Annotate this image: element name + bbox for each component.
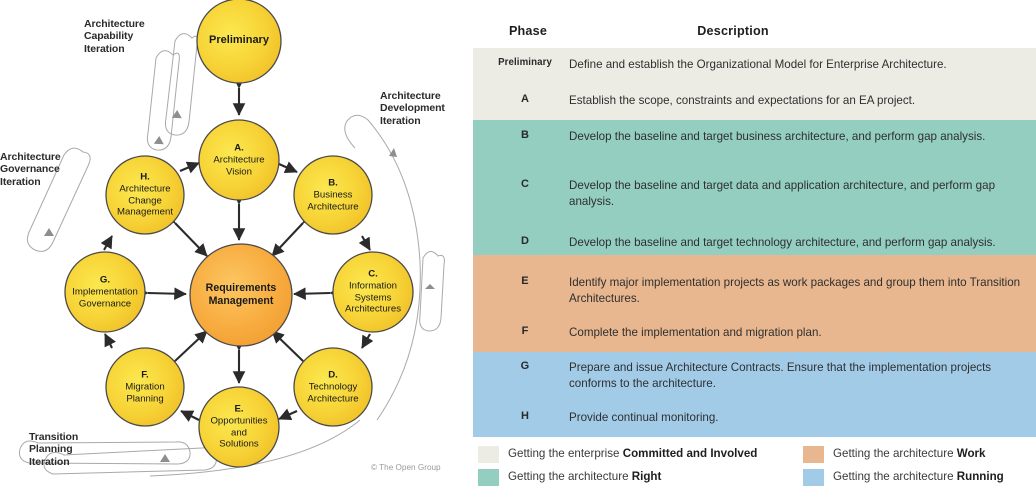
label-architecture-development-iteration: Architecture Development Iteration (380, 90, 445, 127)
legend-emphasis: Work (957, 447, 986, 460)
cell-description: Prepare and issue Architecture Contracts… (569, 360, 1021, 391)
legend-swatch (478, 469, 499, 486)
legend-emphasis: Committed and Involved (623, 447, 758, 460)
circle-phase-b[interactable] (294, 156, 372, 234)
cell-description: Complete the implementation and migratio… (569, 325, 1021, 341)
column-header-phase: Phase (483, 24, 573, 38)
legend-swatch (803, 469, 824, 486)
legend-emphasis: Running (957, 470, 1004, 483)
legend-label: Getting the architecture Running (833, 468, 1004, 486)
circle-phase-e[interactable] (199, 387, 279, 467)
cell-phase: A (481, 93, 569, 105)
circle-phase-d[interactable] (294, 348, 372, 426)
circle-phase-g[interactable] (65, 252, 145, 332)
cell-phase: E (481, 275, 569, 287)
cell-phase: G (481, 360, 569, 372)
cell-description: Establish the scope, constraints and exp… (569, 93, 1021, 109)
cell-phase: F (481, 325, 569, 337)
circle-phase-a[interactable] (199, 120, 279, 200)
table-header-row: Phase Description (473, 24, 1036, 48)
adm-cycle-diagram: Architecture Capability Iteration Archit… (0, 0, 470, 494)
legend-label: Getting the enterprise Committed and Inv… (508, 445, 757, 463)
legend-emphasis: Right (632, 470, 662, 483)
cell-description: Provide continual monitoring. (569, 410, 1021, 426)
circle-requirements-management[interactable] (190, 244, 292, 346)
cell-description: Identify major implementation projects a… (569, 275, 1021, 306)
cell-phase: B (481, 129, 569, 141)
label-architecture-governance-iteration: Architecture Governance Iteration (0, 151, 61, 188)
cell-phase: D (481, 235, 569, 247)
circle-phase-c[interactable] (333, 252, 413, 332)
legend: Getting the enterprise Committed and Inv… (473, 443, 1036, 491)
legend-label: Getting the architecture Right (508, 468, 661, 486)
phase-description-panel: Phase Description PreliminaryDefine and … (473, 0, 1036, 494)
cell-phase: C (481, 178, 569, 190)
legend-swatch (803, 446, 824, 463)
circle-phase-f[interactable] (106, 348, 184, 426)
cell-phase: H (481, 410, 569, 422)
legend-swatch (478, 446, 499, 463)
cell-description: Define and establish the Organizational … (569, 57, 1021, 73)
cell-phase: Preliminary (481, 57, 569, 68)
cell-description: Develop the baseline and target data and… (569, 178, 1021, 209)
cell-description: Develop the baseline and target business… (569, 129, 1021, 145)
legend-label: Getting the architecture Work (833, 445, 986, 463)
column-header-description: Description (568, 24, 898, 38)
adm-diagram-svg (0, 0, 470, 494)
circle-phase-h[interactable] (106, 156, 184, 234)
label-transition-planning-iteration: Transition Planning Iteration (29, 431, 78, 468)
copyright-notice: © The Open Group (371, 463, 441, 472)
cell-description: Develop the baseline and target technolo… (569, 235, 1021, 251)
label-architecture-capability-iteration: Architecture Capability Iteration (84, 18, 145, 55)
circle-preliminary[interactable] (197, 0, 281, 83)
